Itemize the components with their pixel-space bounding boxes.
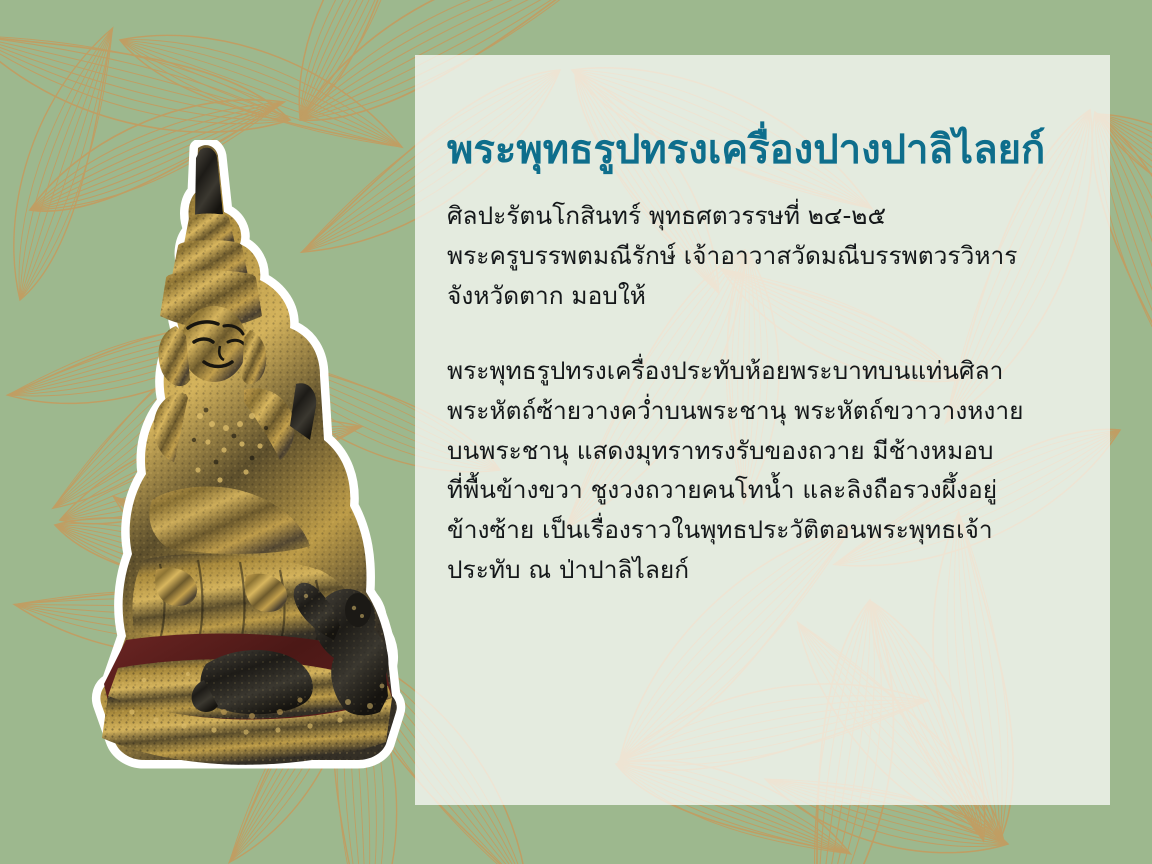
provenance-line-1: ศิลปะรัตนโกสินทร์ พุทธศตวรรษที่ ๒๔-๒๕	[447, 196, 1090, 236]
provenance-line-2: พระครูบรรพตมณีรักษ์ เจ้าอาวาสวัดมณีบรรพต…	[447, 236, 1090, 276]
description-line-2: พระหัตถ์ซ้ายวางคว่ำบนพระชานุ พระหัตถ์ขวา…	[447, 391, 1090, 431]
description-paragraph: พระพุทธรูปทรงเครื่องประทับห้อยพระบาทบนแท…	[447, 351, 1090, 589]
description-line-5: ข้างซ้าย เป็นเรื่องราวในพุทธประวัติตอนพร…	[447, 510, 1090, 550]
provenance-line-3: จังหวัดตาก มอบให้	[447, 276, 1090, 316]
buddha-statue-image	[48, 140, 468, 820]
info-panel: พระพุทธรูปทรงเครื่องปางปาลิไลยก์ ศิลปะรั…	[415, 55, 1110, 805]
description-line-4: ที่พื้นข้างขวา ชูงวงถวายคนโทน้ำ และลิงถื…	[447, 470, 1090, 510]
description-line-3: บนพระชานุ แสดงมุทราทรงรับของถวาย มีช้างห…	[447, 431, 1090, 471]
presentation-slide: พระพุทธรูปทรงเครื่องปางปาลิไลยก์ ศิลปะรั…	[0, 0, 1152, 864]
description-line-6: ประทับ ณ ป่าปาลิไลยก์	[447, 550, 1090, 590]
provenance-paragraph: ศิลปะรัตนโกสินทร์ พุทธศตวรรษที่ ๒๔-๒๕ พร…	[447, 196, 1090, 315]
buddha-face	[181, 306, 247, 382]
page-title: พระพุทธรูปทรงเครื่องปางปาลิไลยก์	[447, 127, 1090, 174]
description-line-1: พระพุทธรูปทรงเครื่องประทับห้อยพระบาทบนแท…	[447, 351, 1090, 391]
